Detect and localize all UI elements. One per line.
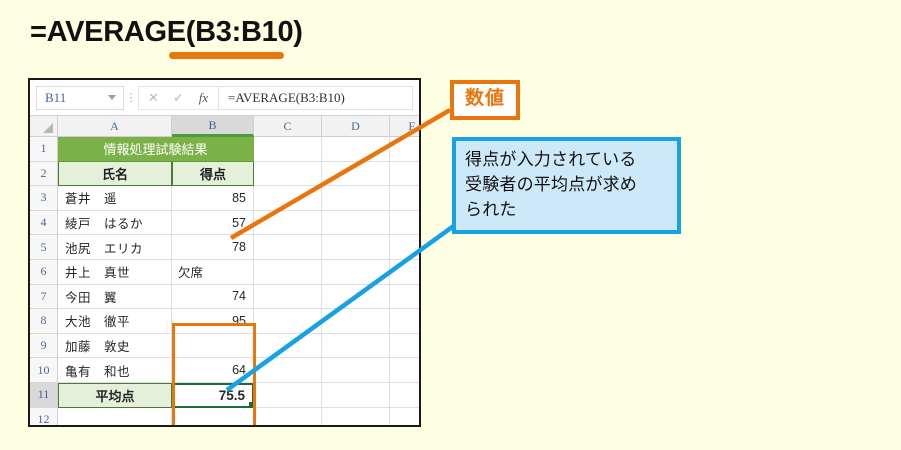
cell-e2[interactable] — [390, 162, 421, 187]
cell-c10[interactable] — [254, 358, 322, 383]
grid-row: 12 — [30, 408, 419, 427]
cell-b2[interactable]: 得点 — [172, 162, 254, 187]
cell-c9[interactable] — [254, 334, 322, 359]
select-all-triangle-icon — [43, 123, 53, 133]
excel-window: B11 ⋮ ✕ ✓ fx =AVERAGE(B3:B10) A B C D E … — [28, 78, 421, 427]
column-header-d[interactable]: D — [322, 116, 390, 137]
page-title: =AVERAGE(B3:B10) — [30, 14, 630, 50]
cancel-icon[interactable]: ✕ — [141, 90, 166, 106]
name-box[interactable]: B11 — [36, 86, 124, 110]
cell-e9[interactable] — [390, 334, 421, 359]
cell-b7[interactable]: 74 — [172, 285, 254, 310]
cell-d2[interactable] — [322, 162, 390, 187]
cell-b8[interactable]: 95 — [172, 309, 254, 334]
row-header-2[interactable]: 2 — [30, 162, 58, 187]
cell-a11[interactable]: 平均点 — [58, 383, 172, 408]
row-header-8[interactable]: 8 — [30, 309, 58, 334]
grid-row: 11平均点75.5 — [30, 383, 419, 408]
cell-a5[interactable]: 池尻 エリカ — [58, 235, 172, 260]
grid-row: 4綾戸 はるか57 — [30, 211, 419, 236]
cell-c1[interactable] — [254, 137, 322, 162]
grid-rows: 1情報処理試験結果2氏名得点3蒼井 遥854綾戸 はるか575池尻 エリカ786… — [30, 137, 419, 427]
callout-description-line2: 受験者の平均点が求め — [465, 172, 668, 197]
row-header-6[interactable]: 6 — [30, 260, 58, 285]
cell-b5[interactable]: 78 — [172, 235, 254, 260]
column-header-row: A B C D E — [30, 116, 419, 137]
select-all-corner[interactable] — [30, 116, 58, 137]
cell-a2[interactable]: 氏名 — [58, 162, 172, 187]
grid-row: 5池尻 エリカ78 — [30, 235, 419, 260]
cell-a3[interactable]: 蒼井 遥 — [58, 186, 172, 211]
grid-row: 1情報処理試験結果 — [30, 137, 419, 162]
cell-c6[interactable] — [254, 260, 322, 285]
spreadsheet-grid: A B C D E 1情報処理試験結果2氏名得点3蒼井 遥854綾戸 はるか57… — [30, 116, 419, 427]
cell-d8[interactable] — [322, 309, 390, 334]
cell-b11[interactable]: 75.5 — [172, 383, 254, 408]
cell-b9[interactable] — [172, 334, 254, 359]
cell-b12[interactable] — [172, 408, 254, 427]
cell-a10[interactable]: 亀有 和也 — [58, 358, 172, 383]
grid-row: 3蒼井 遥85 — [30, 186, 419, 211]
cell-c3[interactable] — [254, 186, 322, 211]
cell-b4[interactable]: 57 — [172, 211, 254, 236]
row-header-5[interactable]: 5 — [30, 235, 58, 260]
grid-row: 2氏名得点 — [30, 162, 419, 187]
callout-numeric: 数値 — [450, 80, 520, 120]
cell-d10[interactable] — [322, 358, 390, 383]
more-options-icon[interactable]: ⋮ — [124, 93, 138, 103]
grid-row: 8大池 徹平95 — [30, 309, 419, 334]
cell-c4[interactable] — [254, 211, 322, 236]
cell-b3[interactable]: 85 — [172, 186, 254, 211]
column-header-a[interactable]: A — [58, 116, 172, 137]
enter-icon[interactable]: ✓ — [166, 90, 191, 106]
row-header-4[interactable]: 4 — [30, 211, 58, 236]
cell-c8[interactable] — [254, 309, 322, 334]
cell-b6[interactable]: 欠席 — [172, 260, 254, 285]
cell-e12[interactable] — [390, 408, 421, 427]
grid-row: 10亀有 和也64 — [30, 358, 419, 383]
cell-a12[interactable] — [58, 408, 172, 427]
cell-d4[interactable] — [322, 211, 390, 236]
row-header-7[interactable]: 7 — [30, 285, 58, 310]
cell-e10[interactable] — [390, 358, 421, 383]
cell-e11[interactable] — [390, 383, 421, 408]
fill-handle[interactable] — [248, 401, 255, 408]
title-underline-marker — [169, 52, 284, 59]
cell-d6[interactable] — [322, 260, 390, 285]
chevron-down-icon[interactable] — [108, 95, 116, 100]
cell-d1[interactable] — [322, 137, 390, 162]
column-header-c[interactable]: C — [254, 116, 322, 137]
cell-d3[interactable] — [322, 186, 390, 211]
cell-c7[interactable] — [254, 285, 322, 310]
row-header-9[interactable]: 9 — [30, 334, 58, 359]
name-box-value: B11 — [37, 90, 108, 106]
grid-row: 6井上 真世欠席 — [30, 260, 419, 285]
column-header-b[interactable]: B — [172, 116, 254, 137]
row-header-3[interactable]: 3 — [30, 186, 58, 211]
cell-a4[interactable]: 綾戸 はるか — [58, 211, 172, 236]
column-header-e[interactable]: E — [390, 116, 421, 137]
page-title-area: =AVERAGE(B3:B10) — [30, 14, 630, 60]
cell-d11[interactable] — [322, 383, 390, 408]
formula-bar: B11 ⋮ ✕ ✓ fx =AVERAGE(B3:B10) — [30, 80, 419, 116]
cell-a9[interactable]: 加藤 敦史 — [58, 334, 172, 359]
cell-a8[interactable]: 大池 徹平 — [58, 309, 172, 334]
insert-function-icon[interactable]: fx — [191, 90, 216, 106]
cell-e8[interactable] — [390, 309, 421, 334]
cell-e5[interactable] — [390, 235, 421, 260]
cell-e3[interactable] — [390, 186, 421, 211]
cell-c11[interactable] — [254, 383, 322, 408]
cell-e7[interactable] — [390, 285, 421, 310]
row-header-11[interactable]: 11 — [30, 383, 58, 408]
formula-input[interactable]: =AVERAGE(B3:B10) — [218, 86, 413, 110]
row-header-12[interactable]: 12 — [30, 408, 58, 427]
row-header-10[interactable]: 10 — [30, 358, 58, 383]
cell-d5[interactable] — [322, 235, 390, 260]
formula-bar-buttons: ✕ ✓ fx — [138, 86, 218, 110]
cell-d12[interactable] — [322, 408, 390, 427]
cell-b10[interactable]: 64 — [172, 358, 254, 383]
row-header-1[interactable]: 1 — [30, 137, 58, 162]
cell-d9[interactable] — [322, 334, 390, 359]
grid-row: 9加藤 敦史 — [30, 334, 419, 359]
cell-a1-title[interactable]: 情報処理試験結果 — [58, 137, 254, 162]
cell-a7[interactable]: 今田 翼 — [58, 285, 172, 310]
cell-e4[interactable] — [390, 211, 421, 236]
callout-description-line3: られた — [465, 197, 668, 222]
cell-e1[interactable] — [390, 137, 421, 162]
callout-description: 得点が入力されている 受験者の平均点が求め られた — [452, 137, 681, 234]
cell-d7[interactable] — [322, 285, 390, 310]
cell-c2[interactable] — [254, 162, 322, 187]
callout-description-line1: 得点が入力されている — [465, 147, 668, 172]
cell-e6[interactable] — [390, 260, 421, 285]
cell-c12[interactable] — [254, 408, 322, 427]
grid-row: 7今田 翼74 — [30, 285, 419, 310]
cell-c5[interactable] — [254, 235, 322, 260]
cell-a6[interactable]: 井上 真世 — [58, 260, 172, 285]
